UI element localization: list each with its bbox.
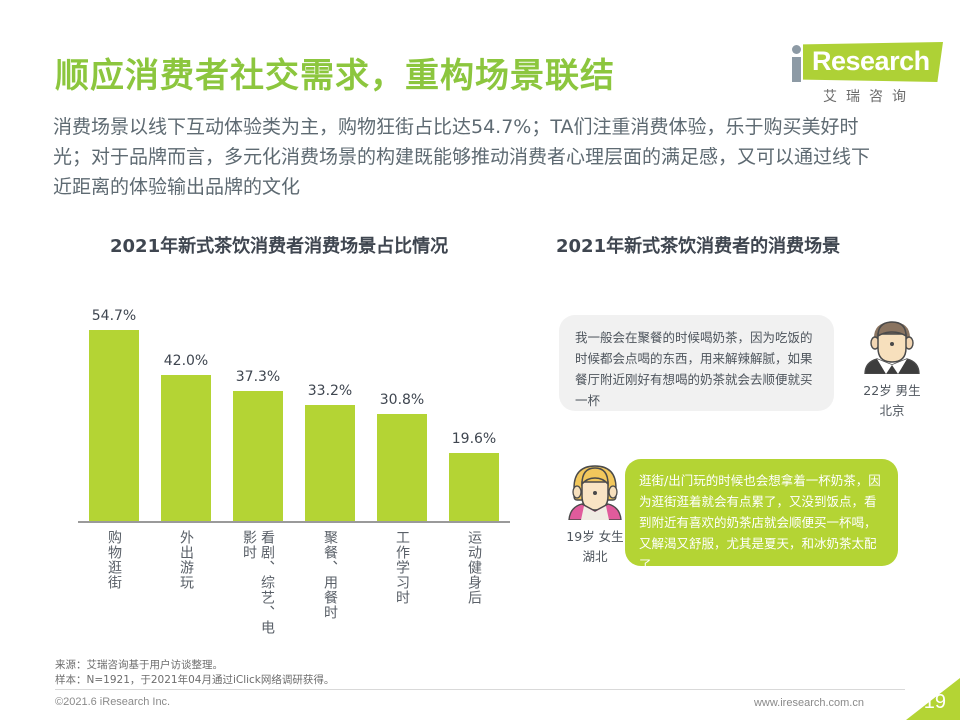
quote-bubble-2: 逛街/出门玩的时候也会想拿着一杯奶茶，因为逛街逛着就会有点累了，又没到饭点，看到… xyxy=(625,459,898,566)
page-title: 顺应消费者社交需求，重构场景联结 xyxy=(55,48,615,97)
bar xyxy=(449,453,499,522)
bar-chart: 54.7%42.0%37.3%33.2%30.8%19.6% xyxy=(78,290,510,522)
quote-text-2: 逛街/出门玩的时候也会想拿着一杯奶茶，因为逛街逛着就会有点累了，又没到饭点，看到… xyxy=(625,459,898,575)
page-subtitle: 消费场景以线下互动体验类为主，购物狂街占比达54.7%；TA们注重消费体验，乐于… xyxy=(53,112,883,202)
category-label-text: 运动健身后 xyxy=(465,530,483,605)
category-label-text: 工作学习时 xyxy=(393,530,411,605)
bar-group: 30.8% xyxy=(366,290,438,522)
chart-axis-line xyxy=(78,521,510,523)
chart-title: 2021年新式茶饮消费者消费场景占比情况 xyxy=(110,232,448,258)
slide: Research 艾瑞咨询 顺应消费者社交需求，重构场景联结 消费场景以线下互动… xyxy=(0,0,960,720)
logo-i-stem-icon xyxy=(792,57,801,82)
category-label: 运动健身后 xyxy=(438,530,510,640)
category-label: 购物逛街 xyxy=(78,530,150,640)
website-link[interactable]: www.iresearch.com.cn xyxy=(754,697,864,709)
bar xyxy=(161,375,211,522)
bar-value-label: 42.0% xyxy=(150,353,222,369)
bar-group: 37.3% xyxy=(222,290,294,522)
female-avatar-icon xyxy=(564,458,626,520)
panel-title: 2021年新式茶饮消费者的消费场景 xyxy=(556,232,840,258)
bar-value-label: 33.2% xyxy=(294,383,366,399)
footer-divider xyxy=(55,689,905,690)
quote-bubble-1: 我一般会在聚餐的时候喝奶茶，因为吃饭的时候都会点喝的东西，用来解辣解腻，如果餐厅… xyxy=(559,315,834,411)
source-note: 来源：艾瑞咨询基于用户访谈整理。 样本：N=1921，于2021年04月通过iC… xyxy=(55,658,334,688)
bar-group: 19.6% xyxy=(438,290,510,522)
category-label: 工作学习时 xyxy=(366,530,438,640)
quote-person-1: 22岁 男生 北京 xyxy=(850,312,934,419)
source-line: 来源：艾瑞咨询基于用户访谈整理。 xyxy=(55,658,334,673)
bar xyxy=(377,414,427,522)
bar xyxy=(233,391,283,522)
category-label-text: 外出游玩 xyxy=(177,530,195,590)
bar-value-label: 37.3% xyxy=(222,369,294,385)
bar-group: 42.0% xyxy=(150,290,222,522)
bar xyxy=(305,405,355,522)
bar xyxy=(89,330,139,522)
quote-person-2: 19岁 女生 湖北 xyxy=(553,458,637,565)
bar-value-label: 19.6% xyxy=(438,431,510,447)
category-label: 看剧、综艺、电影时 xyxy=(222,530,294,640)
quote-person-2-age: 19岁 女生 xyxy=(553,528,637,545)
sample-line: 样本：N=1921，于2021年04月通过iClick网络调研获得。 xyxy=(55,673,334,688)
category-label: 聚餐、用餐时 xyxy=(294,530,366,640)
category-label-text: 聚餐、用餐时 xyxy=(321,530,339,620)
iresearch-logo: Research 艾瑞咨询 xyxy=(785,42,945,106)
category-label: 外出游玩 xyxy=(150,530,222,640)
quote-person-2-city: 湖北 xyxy=(553,548,637,565)
bar-value-label: 54.7% xyxy=(78,308,150,324)
quote-person-1-age: 22岁 男生 xyxy=(850,382,934,399)
male-avatar-icon xyxy=(861,312,923,374)
bar-group: 54.7% xyxy=(78,290,150,522)
quote-text-1: 我一般会在聚餐的时候喝奶茶，因为吃饭的时候都会点喝的东西，用来解辣解腻，如果餐厅… xyxy=(559,315,834,411)
category-label-text: 购物逛街 xyxy=(105,530,123,590)
bar-value-label: 30.8% xyxy=(366,392,438,408)
copyright-text: ©2021.6 iResearch Inc. xyxy=(55,696,170,708)
category-label-text: 看剧、综艺、电影时 xyxy=(240,530,276,638)
page-number: 19 xyxy=(924,691,946,714)
logo-wordmark: Research xyxy=(812,46,930,77)
logo-i-dot-icon xyxy=(792,45,801,54)
quote-person-1-city: 北京 xyxy=(850,402,934,419)
logo-chinese-name: 艾瑞咨询 xyxy=(799,86,939,106)
bar-group: 33.2% xyxy=(294,290,366,522)
